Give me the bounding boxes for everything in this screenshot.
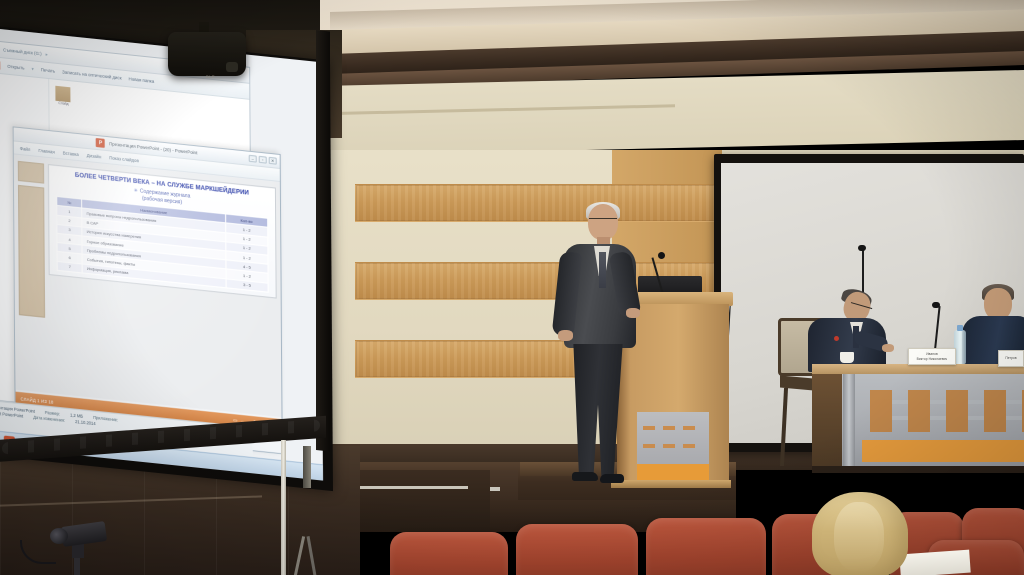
presidium-table-base bbox=[812, 466, 1024, 473]
nameplate-right: Петров bbox=[998, 350, 1024, 367]
screen-tripod-clamp bbox=[303, 446, 311, 488]
tab-home[interactable]: Главная bbox=[38, 148, 54, 155]
sidebar-item-favorites[interactable]: Избранное bbox=[0, 76, 43, 90]
cabinet-edge-strip bbox=[344, 486, 468, 489]
speaker-right-hand bbox=[626, 308, 640, 318]
bullet-icon: ✳ bbox=[134, 188, 138, 194]
presidium-table-leg bbox=[843, 374, 855, 470]
cell-number: 7 bbox=[57, 261, 82, 273]
toolbar-item-1[interactable]: Открыть bbox=[7, 64, 24, 71]
chevron-down-icon[interactable]: ▾ bbox=[31, 66, 33, 72]
details-value: 21.10.2014 bbox=[75, 419, 96, 427]
speaker-tie bbox=[599, 252, 606, 288]
wall-wood-panel-1 bbox=[355, 184, 720, 222]
slide-thumbnail-pane[interactable] bbox=[18, 161, 45, 318]
podium-decorative-panel bbox=[637, 412, 709, 464]
list-item[interactable]: Слайд bbox=[55, 86, 71, 108]
speaker-person bbox=[556, 204, 640, 492]
toolbar-item-4[interactable]: Новая папка bbox=[129, 76, 155, 84]
presidium-table-side bbox=[812, 374, 842, 470]
conference-hall-photo: Иванов Виктор Николаевич Петров bbox=[0, 0, 1024, 575]
tab-slideshow[interactable]: Показ слайдов bbox=[109, 155, 139, 163]
coffee-cup-icon bbox=[840, 352, 854, 363]
eyeglasses-icon bbox=[589, 218, 617, 223]
file-name: Слайд bbox=[55, 101, 71, 107]
chevron-right-icon: ▸ bbox=[46, 51, 48, 57]
nameplate-left: Иванов Виктор Николаевич bbox=[908, 348, 956, 365]
tab-file[interactable]: Файл bbox=[20, 146, 31, 152]
projection-screen-left-edge bbox=[316, 30, 330, 452]
slide-canvas[interactable]: БОЛЕЕ ЧЕТВЕРТИ ВЕКА – НА СЛУЖБЕ МАРКШЕЙД… bbox=[48, 164, 277, 298]
projector-lens-icon bbox=[226, 62, 238, 72]
presidium-table-accent-stripe bbox=[862, 440, 1024, 462]
slide-thumbnail[interactable] bbox=[18, 185, 45, 318]
stage-side-cabinet bbox=[340, 470, 490, 530]
audience-handout-paper bbox=[899, 550, 970, 575]
powerpoint-editing-area: БОЛЕЕ ЧЕТВЕРТИ ВЕКА – НА СЛУЖБЕ МАРКШЕЙД… bbox=[14, 154, 282, 417]
speaker-shoe-right bbox=[600, 474, 624, 483]
audience-seat[interactable] bbox=[646, 518, 766, 575]
powerpoint-icon: P bbox=[96, 138, 105, 148]
speaker-shoe-left bbox=[572, 472, 598, 481]
powerpoint-window[interactable]: P Презентация PowerPoint - (20) - PowerP… bbox=[13, 126, 283, 454]
speaker-trousers bbox=[570, 344, 626, 476]
camera-lens-icon bbox=[50, 528, 68, 544]
maximize-icon[interactable]: ▫ bbox=[259, 156, 267, 164]
nameplate-line1: Петров bbox=[1005, 356, 1016, 361]
tab-insert[interactable]: Вставка bbox=[63, 150, 79, 157]
lapel-badge-icon bbox=[834, 336, 839, 341]
minimize-icon[interactable]: – bbox=[249, 155, 257, 163]
microphone-icon bbox=[658, 252, 665, 259]
microphone-icon bbox=[932, 302, 940, 308]
delegate-hand bbox=[882, 344, 894, 352]
audience-member-head bbox=[812, 492, 908, 575]
microphone-icon bbox=[858, 245, 866, 251]
audience-seat[interactable] bbox=[516, 524, 638, 575]
close-icon[interactable]: ✕ bbox=[269, 157, 277, 165]
slide-thumbnail[interactable] bbox=[18, 161, 44, 184]
projection-screen-left-surface[interactable]: Компьютер ▸ Съемный диск (G:) ▸ Записать… bbox=[0, 28, 323, 480]
breadcrumb-item-1[interactable]: Съемный диск (G:) bbox=[3, 47, 42, 56]
window-controls[interactable]: – ▫ ✕ bbox=[249, 155, 277, 165]
audience-seat[interactable] bbox=[390, 532, 508, 575]
tab-design[interactable]: Дизайн bbox=[87, 153, 101, 159]
projected-windows-desktop: Компьютер ▸ Съемный диск (G:) ▸ Записать… bbox=[0, 28, 323, 480]
speaker-left-hand bbox=[558, 330, 573, 341]
presidium-table-grille bbox=[870, 390, 1024, 432]
toolbar-item-2[interactable]: Печать bbox=[41, 67, 55, 73]
toolbar-item-3[interactable]: Записать на оптический диск bbox=[62, 69, 122, 80]
nameplate-line2: Виктор Николаевич bbox=[917, 357, 948, 362]
file-icon bbox=[55, 86, 70, 103]
upper-wall bbox=[320, 70, 1024, 156]
screen-tripod-pole bbox=[281, 440, 286, 575]
projector-brand-label: DLP bbox=[206, 74, 215, 79]
